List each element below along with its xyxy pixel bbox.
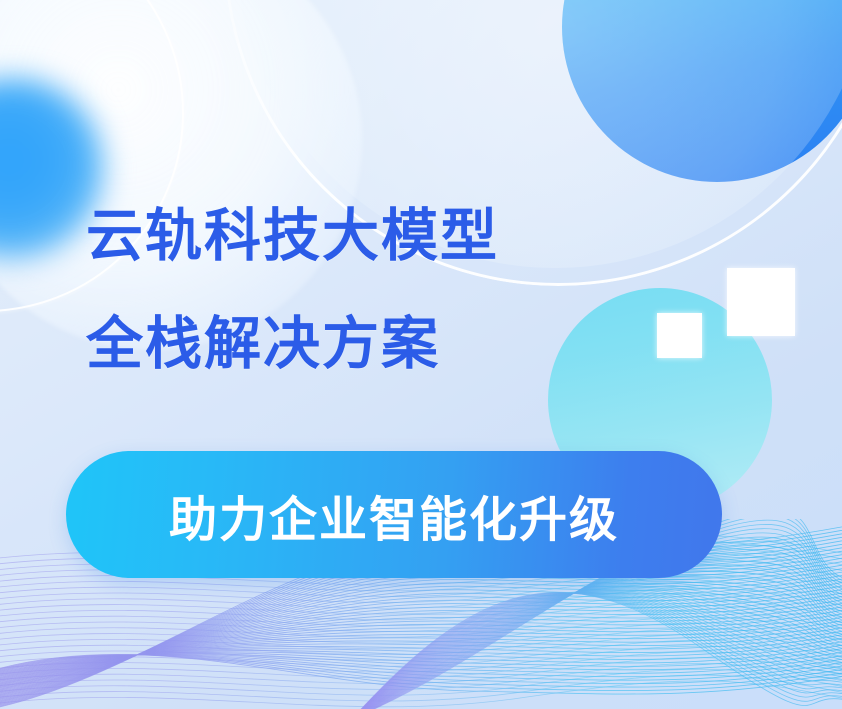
cta-button[interactable]: 助力企业智能化升级 [66, 451, 722, 578]
headline-line-2: 全栈解决方案 [86, 290, 499, 398]
promo-banner: 云轨科技大模型 全栈解决方案 助力企业智能化升级 [0, 0, 842, 709]
headline-block: 云轨科技大模型 全栈解决方案 [86, 182, 499, 398]
sparkle-large-icon [727, 268, 795, 336]
headline-line-1: 云轨科技大模型 [86, 182, 499, 290]
cta-button-label: 助力企业智能化升级 [169, 480, 619, 550]
sparkle-small-icon [657, 313, 702, 358]
